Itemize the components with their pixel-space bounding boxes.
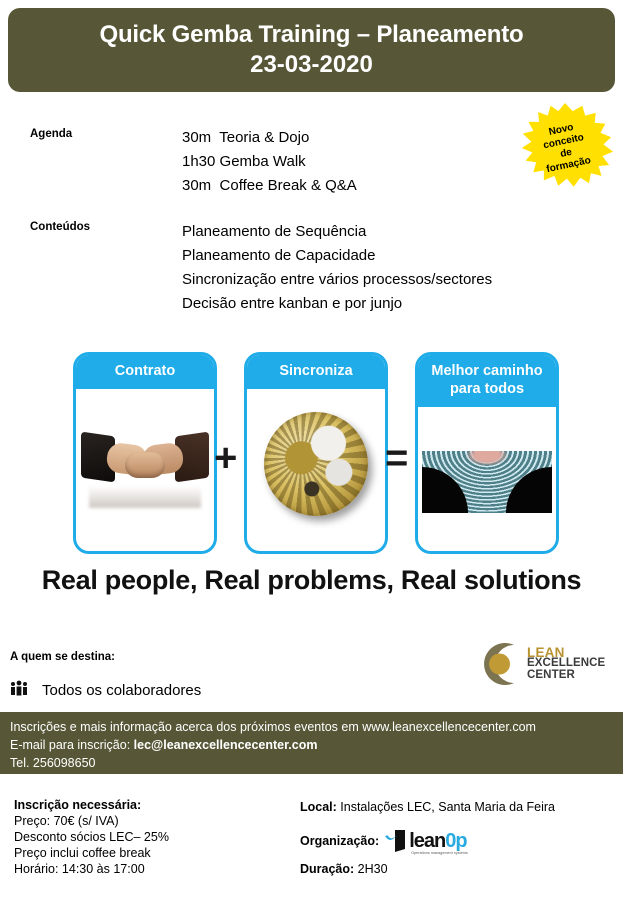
leanop-tagline: Operations management systems — [411, 851, 468, 855]
equals-operator: = — [385, 438, 408, 478]
conteudos-item: Planeamento de Sequência — [182, 220, 492, 244]
contact-phone-line: Tel. 256098650 — [10, 754, 613, 772]
conteudos-item: Decisão entre kanban e por junjo — [182, 292, 492, 316]
event-duration: Duração: 2H30 — [300, 862, 388, 876]
agenda-item: 1h30 Gemba Walk — [182, 150, 357, 174]
new-concept-badge: Novo conceito de formação — [517, 103, 613, 193]
handshake-reflection — [89, 486, 201, 508]
registration-includes: Preço inclui coffee break — [14, 845, 169, 861]
panel-contrato: Contrato — [73, 352, 217, 554]
registration-info: Inscrição necessária: Preço: 70€ (s/ IVA… — [14, 797, 169, 877]
leanop-wordmark: lean0p — [409, 831, 466, 851]
event-duration-label: Duração: — [300, 862, 354, 876]
conteudos-list: Planeamento de Sequência Planeamento de … — [182, 220, 492, 316]
people-group-icon — [10, 680, 28, 701]
audience-row: Todos os colaboradores — [10, 680, 201, 701]
agenda-list: 30m Teoria & Dojo 1h30 Gemba Walk 30m Co… — [182, 126, 357, 198]
panel-melhor-caminho-title: Melhor caminho para todos — [417, 354, 557, 407]
handshake-grip — [125, 452, 165, 478]
panel-sincroniza-title: Sincroniza — [246, 354, 386, 389]
conteudos-item: Planeamento de Capacidade — [182, 244, 492, 268]
conteudos-item: Sincronização entre vários processos/sec… — [182, 268, 492, 292]
lec-wordmark: LEAN EXCELLENCE CENTER — [527, 647, 605, 682]
panel-melhor-caminho-body — [418, 407, 556, 554]
handshake-icon — [81, 428, 209, 500]
leanop-op-text: 0p — [445, 830, 466, 852]
event-date: 23-03-2020 — [250, 50, 373, 80]
panel-sincroniza-body — [247, 389, 385, 539]
watch-gears-icon — [264, 412, 368, 516]
contact-email-label: E-mail para inscrição: — [10, 738, 134, 752]
agenda-item: 30m Teoria & Dojo — [182, 126, 357, 150]
contact-email-value[interactable]: lec@leanexcellencecenter.com — [134, 738, 318, 752]
contact-website-line: Inscrições e mais informação acerca dos … — [10, 718, 613, 736]
contact-bar: Inscrições e mais informação acerca dos … — [0, 712, 623, 774]
registration-title: Inscrição necessária: — [14, 797, 169, 813]
agenda-item: 30m Coffee Break & Q&A — [182, 174, 357, 198]
plus-operator: + — [214, 438, 237, 478]
event-location-label: Local: — [300, 800, 337, 814]
registration-schedule: Horário: 14:30 às 17:00 — [14, 861, 169, 877]
event-organizer: Organização: lean0p Operations managemen… — [300, 828, 481, 854]
event-organizer-label: Organização: — [300, 834, 379, 848]
event-location-value: Instalações LEC, Santa Maria da Feira — [337, 800, 555, 814]
audience-text: Todos os colaboradores — [42, 682, 201, 699]
leanop-lean-text: lean — [409, 830, 445, 852]
event-location: Local: Instalações LEC, Santa Maria da F… — [300, 800, 555, 814]
panel-contrato-title: Contrato — [75, 354, 215, 389]
leanop-check-icon — [385, 829, 409, 853]
lec-line-center: CENTER — [527, 670, 605, 682]
leanop-logo: lean0p Operations management systems — [385, 828, 481, 854]
panel-title-line-1: Melhor caminho — [421, 362, 553, 380]
panel-title-line-2: para todos — [421, 380, 553, 398]
panel-sincroniza: Sincroniza — [244, 352, 388, 554]
tagline: Real people, Real problems, Real solutio… — [0, 565, 623, 596]
panel-melhor-caminho: Melhor caminho para todos — [415, 352, 559, 554]
registration-discount: Desconto sócios LEC– 25% — [14, 829, 169, 845]
panel-contrato-body — [76, 389, 214, 539]
page-title: Quick Gemba Training – Planeamento — [100, 20, 524, 50]
tunnel-perspective-icon — [422, 451, 552, 513]
contact-email-line: E-mail para inscrição: lec@leanexcellenc… — [10, 736, 613, 754]
concept-panels: Contrato Sincroniza Melhor caminho para … — [0, 352, 623, 557]
agenda-label: Agenda — [30, 128, 72, 140]
conteudos-label: Conteúdos — [30, 221, 90, 233]
starburst-icon — [517, 103, 613, 193]
registration-price: Preço: 70€ (s/ IVA) — [14, 813, 169, 829]
audience-title: A quem se destina: — [10, 651, 115, 663]
header-banner: Quick Gemba Training – Planeamento 23-03… — [8, 8, 615, 92]
lec-logo: LEAN EXCELLENCE CENTER — [474, 637, 592, 691]
event-duration-value: 2H30 — [354, 862, 387, 876]
lec-crescent-icon — [474, 640, 522, 688]
